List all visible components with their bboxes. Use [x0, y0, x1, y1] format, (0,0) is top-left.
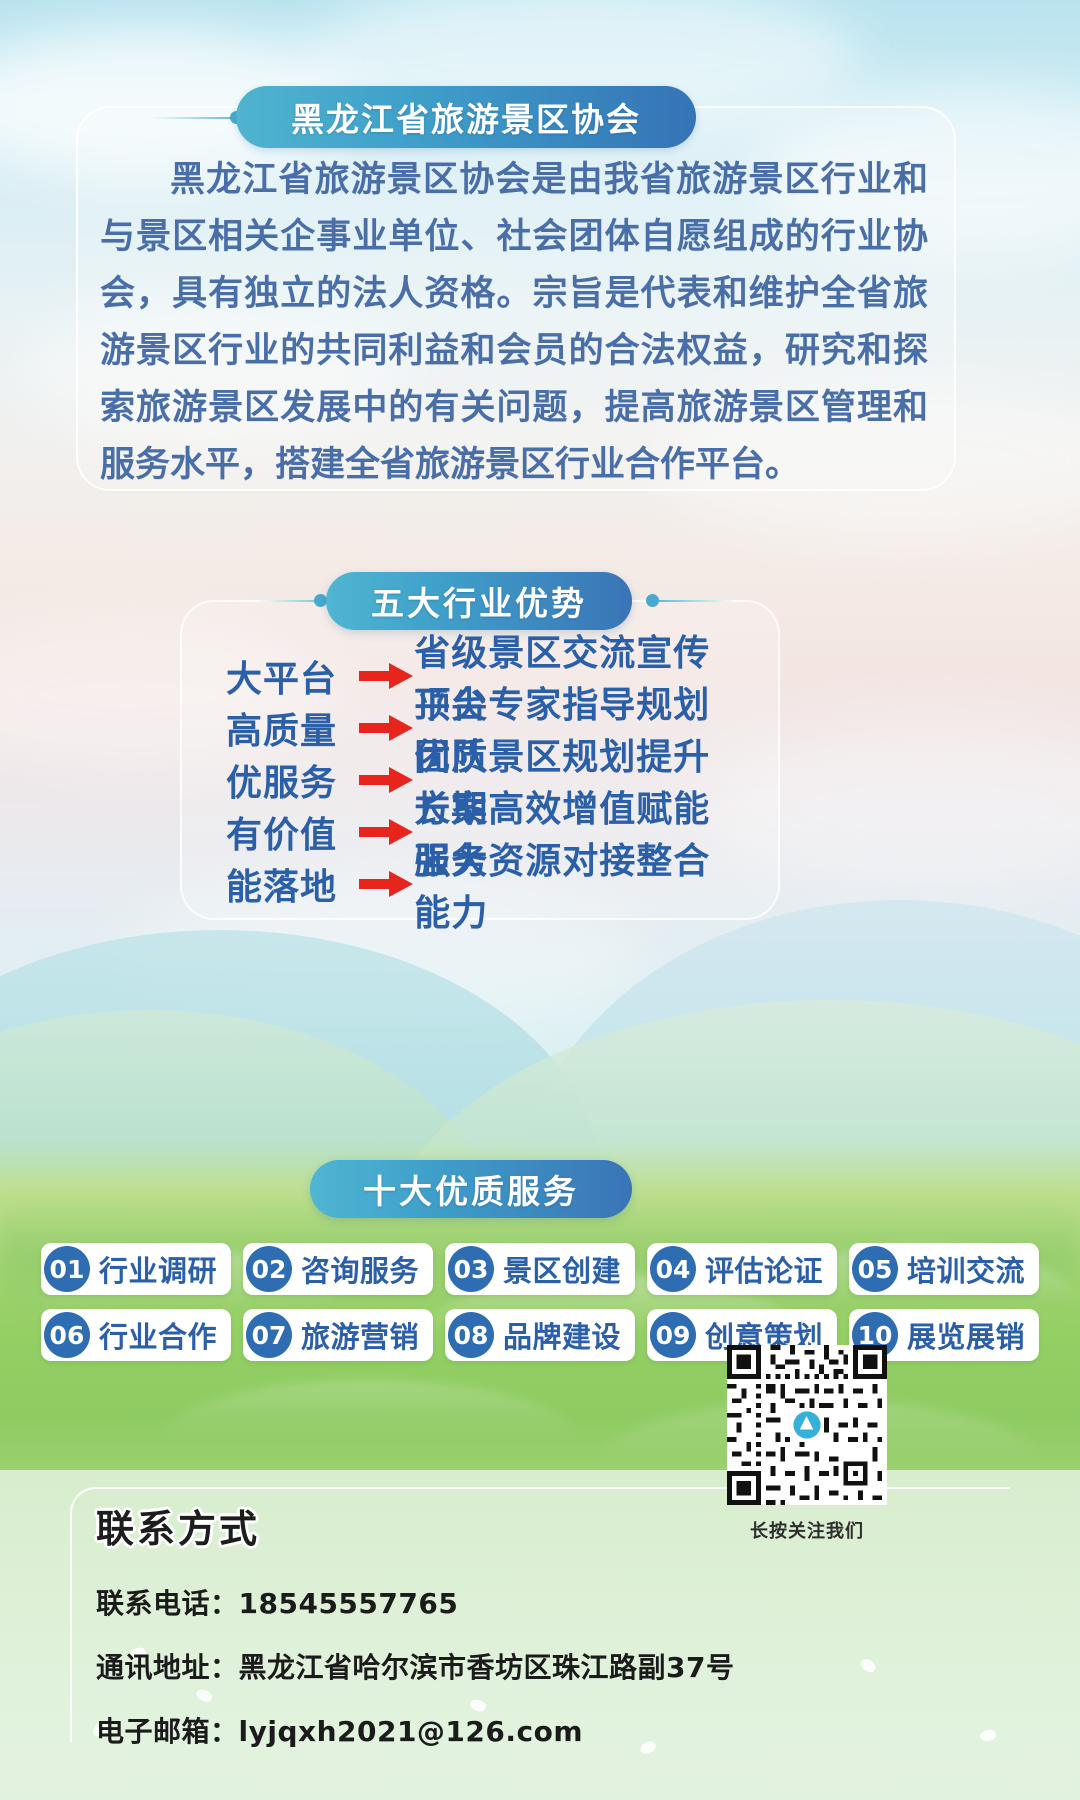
service-label: 行业调研 — [99, 1248, 217, 1290]
arrow-right-icon — [359, 817, 415, 847]
association-title-text: 黑龙江省旅游景区协会 — [291, 93, 641, 141]
contact-phone-label: 联系电话： — [96, 1582, 239, 1622]
contact-email-row: 电子邮箱： lyjqxh2021@126.com — [96, 1710, 736, 1750]
advantage-key: 高质量 — [226, 702, 359, 754]
services-grid: 01 行业调研 02 咨询服务 03 景区创建 04 评估论证 05 培训交 — [0, 1243, 1080, 1375]
contact-email-label: 电子邮箱： — [96, 1710, 239, 1750]
poster-canvas: 黑龙江省旅游景区协会 黑龙江省旅游景区协会是由我省旅游景区行业和与景区相关企事业… — [0, 0, 1080, 1800]
arrow-right-icon — [359, 661, 415, 691]
advantage-key: 有价值 — [226, 806, 359, 858]
contact-phone-row: 联系电话： 18545557765 — [96, 1582, 736, 1622]
arrow-right-icon — [359, 713, 415, 743]
advantage-key: 能落地 — [226, 858, 359, 910]
service-label: 旅游营销 — [301, 1314, 419, 1356]
service-chip[interactable]: 04 评估论证 — [647, 1243, 837, 1295]
association-title-banner: 黑龙江省旅游景区协会 — [236, 86, 696, 148]
service-chip[interactable]: 06 行业合作 — [41, 1309, 231, 1361]
service-label: 行业合作 — [99, 1314, 217, 1356]
arrow-right-icon — [359, 765, 415, 795]
qr-code-image[interactable] — [727, 1345, 887, 1505]
service-number: 09 — [650, 1312, 696, 1358]
contact-title: 联系方式 — [96, 1498, 260, 1553]
contact-email-value[interactable]: lyjqxh2021@126.com — [239, 1715, 584, 1748]
advantages-deco-line-right — [658, 600, 736, 602]
poster-content: 黑龙江省旅游景区协会 黑龙江省旅游景区协会是由我省旅游景区行业和与景区相关企事业… — [0, 0, 1080, 1800]
service-label: 展览展销 — [907, 1314, 1025, 1356]
advantages-list: 大平台 省级景区交流宣传平台 高质量 顶尖专家指导规划团队 优服务 — [226, 650, 746, 910]
service-chip[interactable]: 07 旅游营销 — [243, 1309, 433, 1361]
services-section-banner: 十大优质服务 — [310, 1160, 632, 1218]
service-label: 咨询服务 — [301, 1248, 419, 1290]
service-number: 07 — [246, 1312, 292, 1358]
advantage-key: 大平台 — [226, 650, 359, 702]
service-label: 品牌建设 — [503, 1314, 621, 1356]
service-number: 08 — [448, 1312, 494, 1358]
title-deco-line — [152, 117, 238, 119]
service-chip[interactable]: 03 景区创建 — [445, 1243, 635, 1295]
services-row-2: 06 行业合作 07 旅游营销 08 品牌建设 09 创意策划 10 展览展 — [0, 1309, 1080, 1361]
qr-caption: 长按关注我们 — [727, 1517, 887, 1543]
service-number: 02 — [246, 1246, 292, 1292]
service-chip[interactable]: 05 培训交流 — [849, 1243, 1039, 1295]
service-number: 06 — [44, 1312, 90, 1358]
intro-paragraph: 黑龙江省旅游景区协会是由我省旅游景区行业和与景区相关企事业单位、社会团体自愿组成… — [100, 152, 928, 494]
advantage-value: 强大资源对接整合能力 — [414, 832, 746, 936]
advantages-section-title: 五大行业优势 — [371, 577, 587, 625]
service-chip[interactable]: 02 咨询服务 — [243, 1243, 433, 1295]
service-number: 03 — [448, 1246, 494, 1292]
advantage-key: 优服务 — [226, 754, 359, 806]
service-label: 景区创建 — [503, 1248, 621, 1290]
service-number: 01 — [44, 1246, 90, 1292]
service-label: 培训交流 — [907, 1248, 1025, 1290]
service-label: 评估论证 — [705, 1248, 823, 1290]
contact-address-value: 黑龙江省哈尔滨市香坊区珠江路副37号 — [239, 1646, 735, 1686]
services-section-title: 十大优质服务 — [363, 1165, 579, 1213]
contact-phone-value[interactable]: 18545557765 — [239, 1587, 459, 1620]
arrow-right-icon — [359, 869, 415, 899]
service-number: 04 — [650, 1246, 696, 1292]
qr-code-block[interactable]: 长按关注我们 — [727, 1345, 887, 1543]
service-number: 05 — [852, 1246, 898, 1292]
advantages-section-banner: 五大行业优势 — [326, 572, 632, 630]
service-chip[interactable]: 08 品牌建设 — [445, 1309, 635, 1361]
contact-details: 联系电话： 18545557765 通讯地址： 黑龙江省哈尔滨市香坊区珠江路副3… — [96, 1582, 736, 1774]
services-row-1: 01 行业调研 02 咨询服务 03 景区创建 04 评估论证 05 培训交 — [0, 1243, 1080, 1295]
contact-address-label: 通讯地址： — [96, 1646, 239, 1686]
service-chip[interactable]: 01 行业调研 — [41, 1243, 231, 1295]
contact-address-row: 通讯地址： 黑龙江省哈尔滨市香坊区珠江路副37号 — [96, 1646, 736, 1686]
advantage-row: 能落地 强大资源对接整合能力 — [226, 858, 746, 910]
